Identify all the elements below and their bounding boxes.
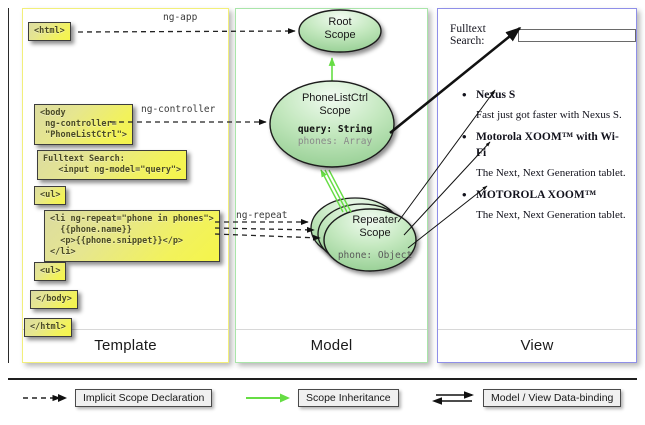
- code-ul-close: <ul>: [34, 262, 66, 281]
- view-panel: Fulltext Search: Nexus S Fast just got f…: [437, 8, 637, 363]
- phone-name: Nexus S: [460, 87, 628, 103]
- legend-separator: [8, 378, 637, 380]
- green-arrow-icon: [245, 390, 291, 406]
- legend-scope-inheritance: Scope Inheritance: [245, 389, 399, 407]
- ng-controller-label: ng-controller: [141, 104, 215, 115]
- code-body-close: </body>: [30, 290, 78, 309]
- phone-name: MOTOROLA XOOM™: [460, 187, 628, 203]
- left-margin-rule: [8, 8, 9, 363]
- code-ul-open: <ul>: [34, 186, 66, 205]
- ng-repeat-label: ng-repeat: [236, 210, 287, 221]
- list-item[interactable]: MOTOROLA XOOM™ The Next, Next Generation…: [460, 187, 628, 223]
- model-panel: Model: [235, 8, 428, 363]
- double-arrow-icon: [430, 390, 476, 406]
- template-panel-label: Template: [23, 337, 228, 354]
- view-browser-content: Fulltext Search: Nexus S Fast just got f…: [438, 9, 636, 362]
- phone-name: Motorola XOOM™ with Wi-Fi: [460, 129, 628, 161]
- phone-snippet: The Next, Next Generation tablet.: [460, 166, 628, 181]
- view-search-input[interactable]: [518, 29, 636, 42]
- code-body-open: <body ng-controller= "PhoneListCtrl">: [34, 104, 133, 145]
- view-search-row: Fulltext Search:: [450, 23, 636, 47]
- legend-label: Implicit Scope Declaration: [75, 389, 212, 407]
- list-item[interactable]: Nexus S Fast just got faster with Nexus …: [460, 87, 628, 123]
- legend-implicit-scope-declaration: Implicit Scope Declaration: [22, 389, 212, 407]
- code-fulltext-search-input: Fulltext Search: <input ng-model="query"…: [37, 150, 187, 180]
- legend-model-view-databinding: Model / View Data-binding: [430, 389, 621, 407]
- view-panel-label: View: [438, 337, 636, 354]
- list-item[interactable]: Motorola XOOM™ with Wi-Fi The Next, Next…: [460, 129, 628, 181]
- phone-snippet: The Next, Next Generation tablet.: [460, 208, 628, 223]
- legend-label: Model / View Data-binding: [483, 389, 621, 407]
- phone-snippet: Fast just got faster with Nexus S.: [460, 108, 628, 123]
- legend-label: Scope Inheritance: [298, 389, 399, 407]
- view-search-label: Fulltext Search:: [450, 23, 513, 47]
- code-html-open: <html>: [28, 22, 71, 41]
- model-panel-label: Model: [236, 337, 427, 354]
- view-phone-list: Nexus S Fast just got faster with Nexus …: [460, 87, 628, 229]
- ng-app-label: ng-app: [163, 12, 197, 23]
- model-panel-divider: [236, 329, 427, 330]
- diagram-canvas: Template <html> <body ng-controller= "Ph…: [0, 0, 645, 425]
- view-panel-divider: [438, 329, 636, 330]
- dashed-arrow-icon: [22, 390, 68, 406]
- code-html-close: </html>: [24, 318, 72, 337]
- code-li-ng-repeat: <li ng-repeat="phone in phones"> {{phone…: [44, 210, 220, 262]
